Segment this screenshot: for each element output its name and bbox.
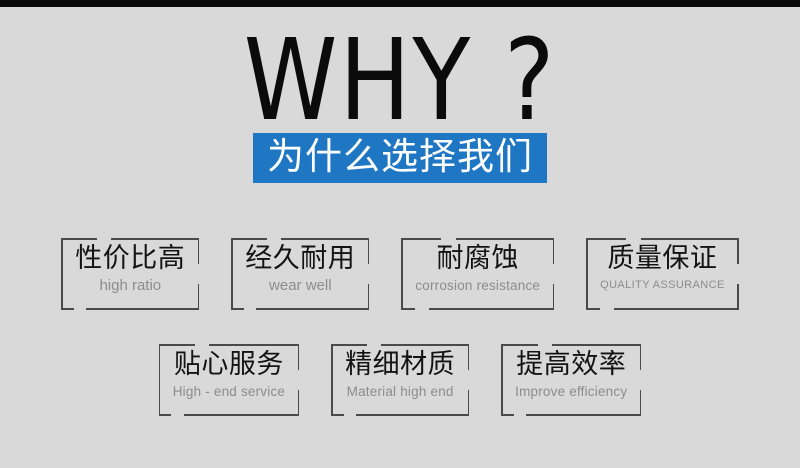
bracket-frame-segment xyxy=(552,344,642,346)
bracket-frame-segment xyxy=(61,238,63,310)
feature-subtitle-en: High - end service xyxy=(173,382,285,401)
feature-box: 经久耐用wear well xyxy=(231,238,369,310)
bracket-frame-segment xyxy=(86,308,199,310)
bracket-frame-segment xyxy=(586,308,600,310)
bracket-frame-segment xyxy=(401,308,415,310)
bracket-frame-segment xyxy=(401,238,441,240)
top-dark-strip xyxy=(0,0,800,7)
feature-title-cn: 质量保证 xyxy=(607,242,717,275)
bracket-frame-segment xyxy=(198,284,200,310)
bracket-frame-segment xyxy=(468,390,470,416)
bracket-frame-segment xyxy=(111,238,199,240)
feature-title-cn: 经久耐用 xyxy=(245,242,355,275)
bracket-frame-segment xyxy=(501,414,514,416)
page-title: WHY ? xyxy=(24,22,776,140)
feature-subtitle-en: high ratio xyxy=(99,276,161,295)
bracket-frame-segment xyxy=(209,344,299,346)
feature-box: 耐腐蚀corrosion resistance xyxy=(401,238,554,310)
feature-box: 提高效率Improve efficiency xyxy=(501,344,641,416)
bracket-frame-segment xyxy=(231,238,233,310)
bracket-frame-segment xyxy=(640,344,642,370)
bracket-frame-segment xyxy=(256,308,369,310)
feature-row-1: 性价比高high ratio经久耐用wear well耐腐蚀corrosion … xyxy=(0,238,800,310)
bracket-frame-segment xyxy=(553,238,555,264)
feature-title-cn: 精细材质 xyxy=(345,348,455,381)
bracket-frame-segment xyxy=(641,238,739,240)
bracket-frame-segment xyxy=(231,238,267,240)
feature-title-cn: 提高效率 xyxy=(516,348,626,381)
subtitle-banner-wrapper: 为什么选择我们 xyxy=(0,133,800,183)
bracket-frame-segment xyxy=(381,344,469,346)
bracket-frame-segment xyxy=(368,284,370,310)
bracket-frame-segment xyxy=(356,414,469,416)
feature-box: 质量保证QUALITY ASSURANCE xyxy=(586,238,739,310)
subtitle-banner: 为什么选择我们 xyxy=(253,133,547,183)
feature-title-cn: 耐腐蚀 xyxy=(436,242,519,275)
bracket-frame-segment xyxy=(501,344,503,416)
bracket-frame-segment xyxy=(368,238,370,264)
bracket-frame-segment xyxy=(61,238,97,240)
bracket-frame-segment xyxy=(61,308,73,310)
bracket-frame-segment xyxy=(298,390,300,416)
bracket-frame-segment xyxy=(737,284,739,310)
feature-title-cn: 性价比高 xyxy=(75,242,185,275)
bracket-frame-segment xyxy=(298,344,300,370)
bracket-frame-segment xyxy=(159,344,161,416)
bracket-frame-segment xyxy=(331,414,343,416)
bracket-frame-segment xyxy=(331,344,333,416)
bracket-frame-segment xyxy=(640,390,642,416)
bracket-frame-segment xyxy=(468,344,470,370)
bracket-frame-segment xyxy=(401,238,403,310)
feature-title-cn: 贴心服务 xyxy=(174,348,284,381)
bracket-frame-segment xyxy=(586,238,588,310)
bracket-frame-segment xyxy=(456,238,554,240)
bracket-frame-segment xyxy=(614,308,739,310)
feature-subtitle-en: corrosion resistance xyxy=(415,276,540,295)
feature-row-2: 贴心服务High - end service精细材质Material high … xyxy=(0,344,800,416)
bracket-frame-segment xyxy=(184,414,299,416)
feature-box: 性价比高high ratio xyxy=(61,238,199,310)
bracket-frame-segment xyxy=(331,344,367,346)
promo-banner-page: WHY ? 为什么选择我们 性价比高high ratio经久耐用wear wel… xyxy=(0,0,800,468)
bracket-frame-segment xyxy=(586,238,626,240)
bracket-frame-segment xyxy=(553,284,555,310)
feature-box: 精细材质Material high end xyxy=(331,344,469,416)
bracket-frame-segment xyxy=(737,238,739,264)
bracket-frame-segment xyxy=(159,414,172,416)
feature-subtitle-en: Material high end xyxy=(347,382,454,401)
bracket-frame-segment xyxy=(501,344,537,346)
bracket-frame-segment xyxy=(429,308,554,310)
feature-box: 贴心服务High - end service xyxy=(159,344,299,416)
bracket-frame-segment xyxy=(159,344,196,346)
feature-subtitle-en: QUALITY ASSURANCE xyxy=(600,276,725,295)
bracket-frame-segment xyxy=(198,238,200,264)
bracket-frame-segment xyxy=(281,238,369,240)
bracket-frame-segment xyxy=(526,414,641,416)
feature-subtitle-en: wear well xyxy=(269,276,332,295)
feature-subtitle-en: Improve efficiency xyxy=(515,382,627,401)
bracket-frame-segment xyxy=(231,308,243,310)
